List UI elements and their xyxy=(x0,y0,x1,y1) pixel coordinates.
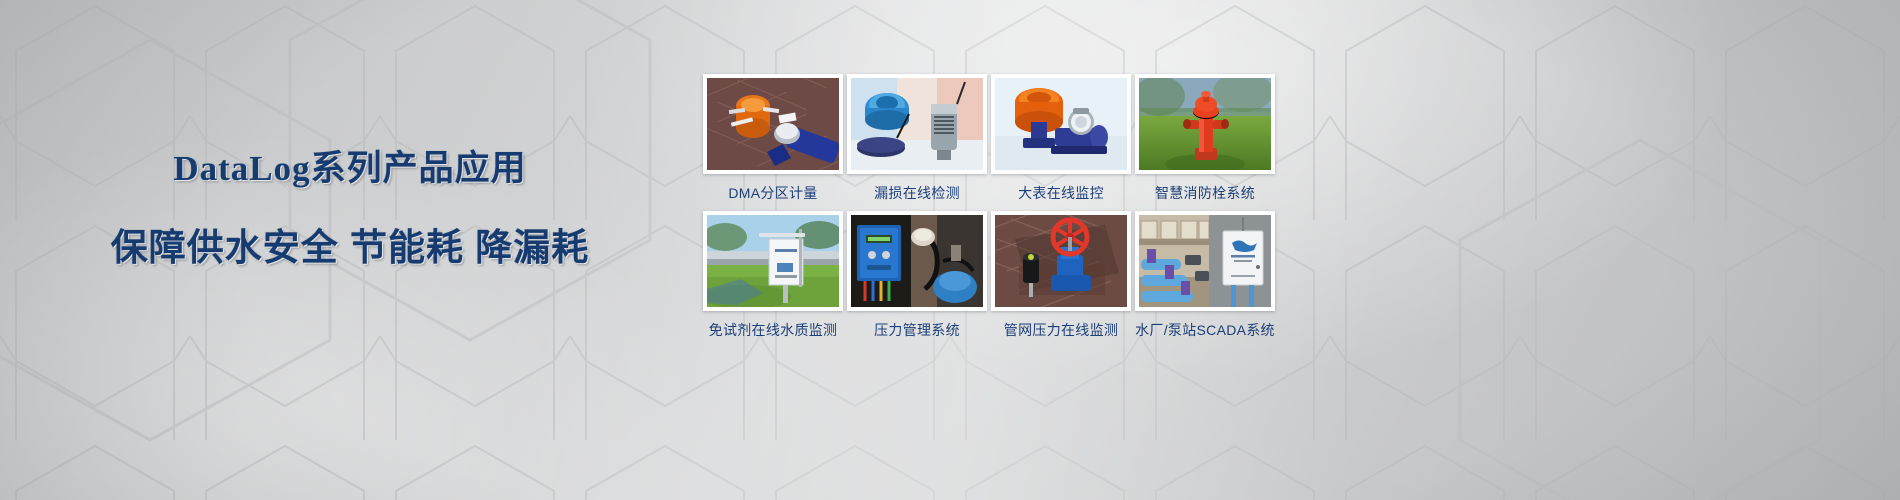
large-water-meter-photo xyxy=(995,78,1127,170)
headline-block: DataLog系列产品应用 保障供水安全 节能耗 降漏耗 xyxy=(0,140,700,271)
reagent-free-water-quality-station-photo xyxy=(707,215,839,307)
pressure-management-cabinet-photo xyxy=(851,215,983,307)
grid-item-caption: 大表在线监控 xyxy=(991,183,1131,203)
thumbnail-frame[interactable] xyxy=(847,74,987,174)
grid-item[interactable]: 免试剂在线水质监测 xyxy=(703,211,843,340)
grid-item-caption: DMA分区计量 xyxy=(703,183,843,203)
thumbnail-frame[interactable] xyxy=(1135,211,1275,311)
headline-line-2: 保障供水安全 节能耗 降漏耗 xyxy=(0,217,700,271)
dma-flow-meter-chamber-photo xyxy=(707,78,839,170)
grid-item-caption: 智慧消防栓系统 xyxy=(1135,183,1275,203)
grid-item-caption: 免试剂在线水质监测 xyxy=(703,320,843,340)
grid-item-caption: 管网压力在线监测 xyxy=(991,320,1131,340)
grid-item[interactable]: 智慧消防栓系统 xyxy=(1135,74,1275,203)
headline-line-1: DataLog系列产品应用 xyxy=(0,140,700,191)
grid-item-caption: 压力管理系统 xyxy=(847,320,987,340)
grid-item[interactable]: 漏损在线检测 xyxy=(847,74,987,203)
promo-banner: DataLog系列产品应用 保障供水安全 节能耗 降漏耗 xyxy=(0,0,1900,500)
grid-item[interactable]: 管网压力在线监测 xyxy=(991,211,1131,340)
grid-item-caption: 水厂/泵站SCADA系统 xyxy=(1135,320,1275,340)
pipeline-pressure-valve-chamber-photo xyxy=(995,215,1127,307)
grid-item-caption: 漏损在线检测 xyxy=(847,183,987,203)
grid-item[interactable]: 水厂/泵站SCADA系统 xyxy=(1135,211,1275,340)
grid-item[interactable]: 压力管理系统 xyxy=(847,211,987,340)
thumbnail-frame[interactable] xyxy=(1135,74,1275,174)
grid-item[interactable]: 大表在线监控 xyxy=(991,74,1131,203)
product-application-grid: DMA分区计量 xyxy=(703,74,1283,340)
leak-detection-sensor-photo xyxy=(851,78,983,170)
thumbnail-frame[interactable] xyxy=(703,74,843,174)
smart-fire-hydrant-photo xyxy=(1139,78,1271,170)
thumbnail-frame[interactable] xyxy=(991,211,1131,311)
thumbnail-frame[interactable] xyxy=(847,211,987,311)
thumbnail-frame[interactable] xyxy=(703,211,843,311)
grid-item[interactable]: DMA分区计量 xyxy=(703,74,843,203)
thumbnail-frame[interactable] xyxy=(991,74,1131,174)
waterworks-pump-station-scada-photo xyxy=(1139,215,1271,307)
